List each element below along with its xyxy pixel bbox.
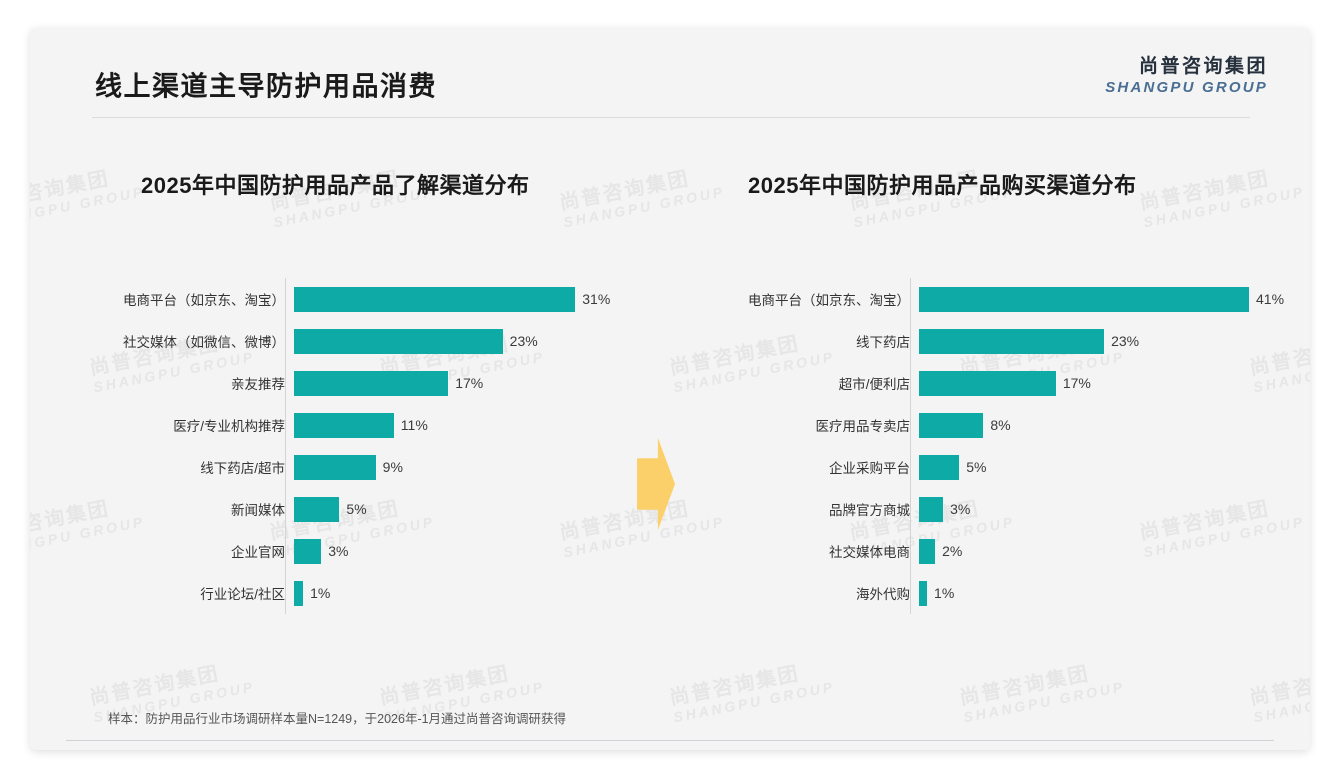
- bar-fill: [919, 287, 1249, 312]
- bar-track: 17%: [294, 362, 685, 404]
- bar-track: 5%: [294, 488, 685, 530]
- bar-row: 线下药店23%: [710, 320, 1290, 362]
- bar-category-label: 电商平台（如京东、淘宝）: [710, 289, 919, 309]
- bar-fill: [919, 329, 1104, 354]
- bar-value-label: 3%: [950, 501, 970, 517]
- bar-category-label: 企业官网: [85, 541, 294, 561]
- bar-category-label: 品牌官方商城: [710, 499, 919, 519]
- bar-fill: [919, 581, 927, 606]
- bar-fill: [294, 329, 503, 354]
- bar-value-label: 8%: [990, 417, 1010, 433]
- bar-fill: [294, 371, 448, 396]
- bar-row: 海外代购1%: [710, 572, 1290, 614]
- bar-value-label: 5%: [346, 501, 366, 517]
- bar-fill: [294, 455, 376, 480]
- bar-row: 超市/便利店17%: [710, 362, 1290, 404]
- slide-header: 线上渠道主导防护用品消费 尚普咨询集团 SHANGPU GROUP: [30, 28, 1310, 120]
- bar-track: 3%: [294, 530, 685, 572]
- bar-fill: [919, 497, 943, 522]
- sample-footnote: 样本：防护用品行业市场调研样本量N=1249，于2026年-1月通过尚普咨询调研…: [108, 708, 566, 727]
- bar-row: 电商平台（如京东、淘宝）31%: [85, 278, 685, 320]
- bar-row: 品牌官方商城3%: [710, 488, 1290, 530]
- bar-category-label: 超市/便利店: [710, 373, 919, 393]
- bar-category-label: 线下药店: [710, 331, 919, 351]
- bar-track: 9%: [294, 446, 685, 488]
- bar-value-label: 11%: [401, 417, 428, 433]
- bar-category-label: 医疗用品专卖店: [710, 415, 919, 435]
- bar-row: 企业采购平台5%: [710, 446, 1290, 488]
- chart-title-right: 2025年中国防护用品产品购买渠道分布: [710, 168, 1290, 198]
- axis-line-left: [285, 278, 286, 614]
- bar-value-label: 41%: [1256, 291, 1284, 307]
- bar-row: 亲友推荐17%: [85, 362, 685, 404]
- watermark: 尚普咨询集团SHANGPU GROUP: [1248, 658, 1310, 725]
- bar-fill: [294, 539, 321, 564]
- bar-fill: [294, 413, 394, 438]
- bar-track: 3%: [919, 488, 1290, 530]
- bar-track: 17%: [919, 362, 1290, 404]
- bar-track: 41%: [919, 278, 1290, 320]
- bar-row: 电商平台（如京东、淘宝）41%: [710, 278, 1290, 320]
- bar-fill: [919, 413, 983, 438]
- header-divider: [92, 117, 1250, 118]
- bar-track: 5%: [919, 446, 1290, 488]
- bar-row: 企业官网3%: [85, 530, 685, 572]
- bar-value-label: 5%: [966, 459, 986, 475]
- bar-track: 1%: [294, 572, 685, 614]
- bar-track: 8%: [919, 404, 1290, 446]
- bar-track: 11%: [294, 404, 685, 446]
- watermark: 尚普咨询集团SHANGPU GROUP: [958, 658, 1126, 725]
- bar-track: 1%: [919, 572, 1290, 614]
- bar-category-label: 社交媒体电商: [710, 541, 919, 561]
- brand-name-cn: 尚普咨询集团: [1105, 55, 1268, 79]
- bar-value-label: 2%: [942, 543, 962, 559]
- bar-list-right: 电商平台（如京东、淘宝）41%线下药店23%超市/便利店17%医疗用品专卖店8%…: [710, 278, 1290, 614]
- bar-row: 社交媒体（如微信、微博）23%: [85, 320, 685, 362]
- bar-fill: [294, 287, 575, 312]
- bar-category-label: 社交媒体（如微信、微博）: [85, 331, 294, 351]
- bar-category-label: 新闻媒体: [85, 499, 294, 519]
- bar-row: 社交媒体电商2%: [710, 530, 1290, 572]
- bar-category-label: 电商平台（如京东、淘宝）: [85, 289, 294, 309]
- plot-area-right: 电商平台（如京东、淘宝）41%线下药店23%超市/便利店17%医疗用品专卖店8%…: [710, 278, 1290, 614]
- bar-value-label: 17%: [1063, 375, 1091, 391]
- bar-fill: [919, 455, 959, 480]
- bar-value-label: 1%: [934, 585, 954, 601]
- brand-logo: 尚普咨询集团 SHANGPU GROUP: [1105, 55, 1268, 98]
- bar-fill: [919, 539, 935, 564]
- bar-fill: [919, 371, 1056, 396]
- bar-row: 线下药店/超市9%: [85, 446, 685, 488]
- bar-list-left: 电商平台（如京东、淘宝）31%社交媒体（如微信、微博）23%亲友推荐17%医疗/…: [85, 278, 685, 614]
- bar-track: 23%: [294, 320, 685, 362]
- plot-area-left: 电商平台（如京东、淘宝）31%社交媒体（如微信、微博）23%亲友推荐17%医疗/…: [85, 278, 685, 614]
- slide-canvas: 尚普咨询集团SHANGPU GROUP尚普咨询集团SHANGPU GROUP尚普…: [30, 28, 1310, 750]
- slide-footer: ©2026.1 SHANGPU GROUP www.shangpu-china.…: [30, 742, 1310, 750]
- chart-purchase-channels: 2025年中国防护用品产品购买渠道分布 电商平台（如京东、淘宝）41%线下药店2…: [710, 168, 1290, 614]
- bar-value-label: 3%: [328, 543, 348, 559]
- bar-category-label: 医疗/专业机构推荐: [85, 415, 294, 435]
- bar-value-label: 23%: [510, 333, 538, 349]
- page-title: 线上渠道主导防护用品消费: [95, 65, 437, 104]
- bar-value-label: 1%: [310, 585, 330, 601]
- bar-track: 31%: [294, 278, 685, 320]
- bar-track: 23%: [919, 320, 1290, 362]
- bar-row: 医疗/专业机构推荐11%: [85, 404, 685, 446]
- bar-category-label: 企业采购平台: [710, 457, 919, 477]
- bar-track: 2%: [919, 530, 1290, 572]
- bar-category-label: 亲友推荐: [85, 373, 294, 393]
- footer-divider: [66, 740, 1274, 741]
- watermark: 尚普咨询集团SHANGPU GROUP: [668, 658, 836, 725]
- chart-title-left: 2025年中国防护用品产品了解渠道分布: [85, 168, 685, 198]
- axis-line-right: [910, 278, 911, 614]
- bar-row: 行业论坛/社区1%: [85, 572, 685, 614]
- bar-row: 医疗用品专卖店8%: [710, 404, 1290, 446]
- bar-row: 新闻媒体5%: [85, 488, 685, 530]
- brand-name-en: SHANGPU GROUP: [1105, 79, 1268, 98]
- chart-awareness-channels: 2025年中国防护用品产品了解渠道分布 电商平台（如京东、淘宝）31%社交媒体（…: [85, 168, 685, 614]
- bar-fill: [294, 581, 303, 606]
- bar-value-label: 9%: [383, 459, 403, 475]
- bar-category-label: 海外代购: [710, 583, 919, 603]
- bar-value-label: 17%: [455, 375, 483, 391]
- bar-category-label: 行业论坛/社区: [85, 583, 294, 603]
- bar-fill: [294, 497, 339, 522]
- bar-value-label: 23%: [1111, 333, 1139, 349]
- bar-category-label: 线下药店/超市: [85, 457, 294, 477]
- bar-value-label: 31%: [582, 291, 610, 307]
